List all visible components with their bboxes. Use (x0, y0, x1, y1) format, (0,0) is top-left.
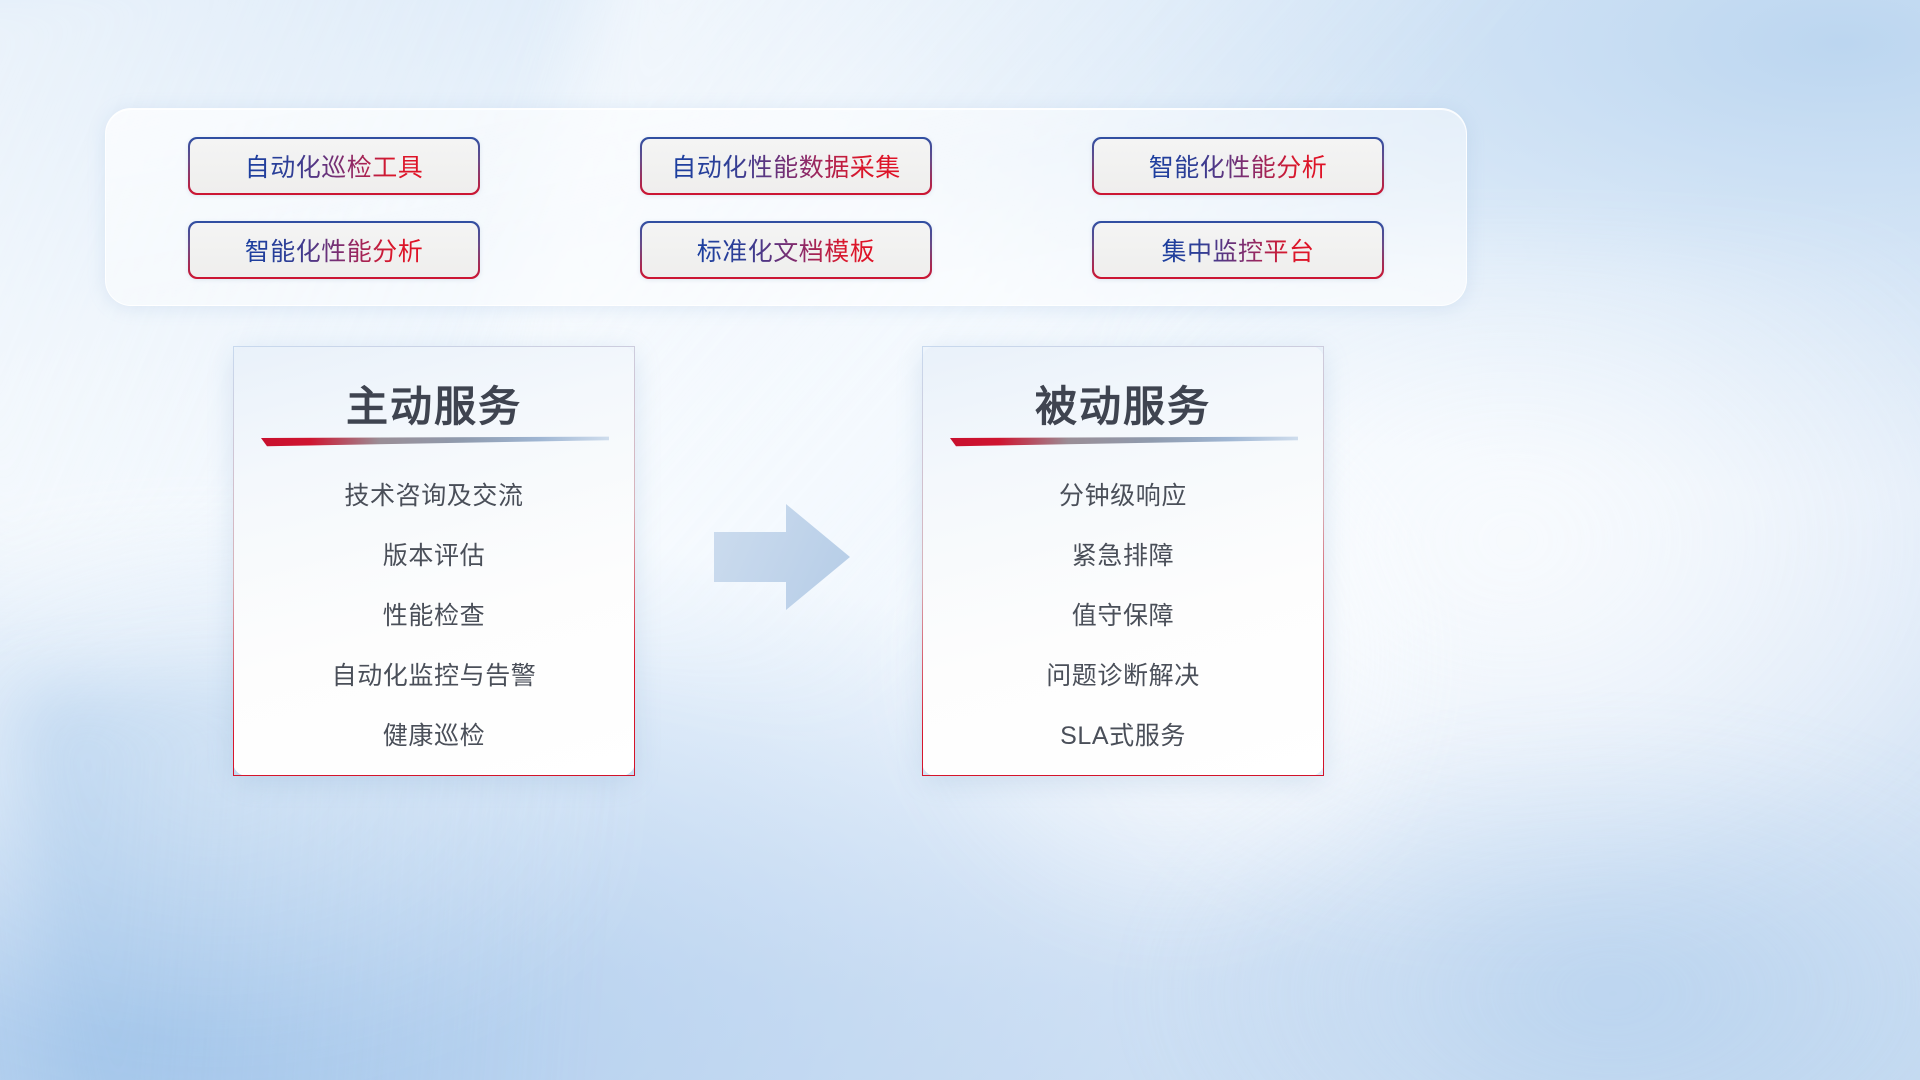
service-list-item: 性能检查 (383, 587, 485, 647)
service-list-item: 健康巡检 (383, 707, 485, 767)
capability-tag-body: 集中监控平台 (1094, 223, 1383, 278)
service-list: 技术咨询及交流 版本评估 性能检查 自动化监控与告警 健康巡检 (234, 467, 634, 767)
capability-tag-label: 智能化性能分析 (1149, 148, 1328, 184)
capability-tag-body: 智能化性能分析 (190, 223, 479, 278)
service-card-passive[interactable]: 被动服务 分钟级响应 紧急排障 值守保障 问题诊断解决 SLA式服务 (922, 346, 1324, 776)
capability-tag[interactable]: 智能化性能分析 (1092, 137, 1384, 195)
capability-tag[interactable]: 自动化巡检工具 (188, 137, 480, 195)
capability-tag-panel: 自动化巡检工具 自动化性能数据采集 智能化性能分析 智能化性能分析 (105, 108, 1467, 306)
capability-tag-label: 智能化性能分析 (245, 232, 424, 268)
service-list-item: 技术咨询及交流 (344, 467, 523, 527)
service-list-item: 自动化监控与告警 (332, 647, 537, 707)
right-arrow-icon (712, 502, 852, 612)
card-title: 主动服务 (234, 373, 634, 434)
capability-tag-body: 标准化文档模板 (642, 223, 931, 278)
title-underline (261, 435, 609, 449)
service-list-item: 分钟级响应 (1059, 467, 1187, 527)
service-card-active[interactable]: 主动服务 技术咨询及交流 版本评估 性能检查 自动化监控与告警 健康巡检 (233, 346, 635, 776)
capability-tag-label: 自动化巡检工具 (245, 148, 424, 184)
capability-tag[interactable]: 标准化文档模板 (640, 221, 932, 279)
capability-tag-body: 自动化巡检工具 (190, 139, 479, 194)
capability-tag[interactable]: 集中监控平台 (1092, 221, 1384, 279)
capability-tag-grid: 自动化巡检工具 自动化性能数据采集 智能化性能分析 智能化性能分析 (106, 109, 1466, 305)
capability-tag-label: 标准化文档模板 (697, 232, 876, 268)
service-list-item: 紧急排障 (1072, 527, 1174, 587)
title-underline (950, 435, 1298, 449)
capability-tag-label: 集中监控平台 (1161, 232, 1314, 268)
service-list-item: SLA式服务 (1060, 707, 1186, 767)
service-list-item: 值守保障 (1072, 587, 1174, 647)
card-title: 被动服务 (923, 373, 1323, 434)
capability-tag-body: 自动化性能数据采集 (642, 139, 931, 194)
capability-tag-label: 自动化性能数据采集 (671, 148, 901, 184)
capability-tag-body: 智能化性能分析 (1094, 139, 1383, 194)
service-list-item: 版本评估 (383, 527, 485, 587)
service-list-item: 问题诊断解决 (1046, 647, 1200, 707)
capability-tag[interactable]: 智能化性能分析 (188, 221, 480, 279)
capability-tag[interactable]: 自动化性能数据采集 (640, 137, 932, 195)
service-list: 分钟级响应 紧急排障 值守保障 问题诊断解决 SLA式服务 (923, 467, 1323, 767)
